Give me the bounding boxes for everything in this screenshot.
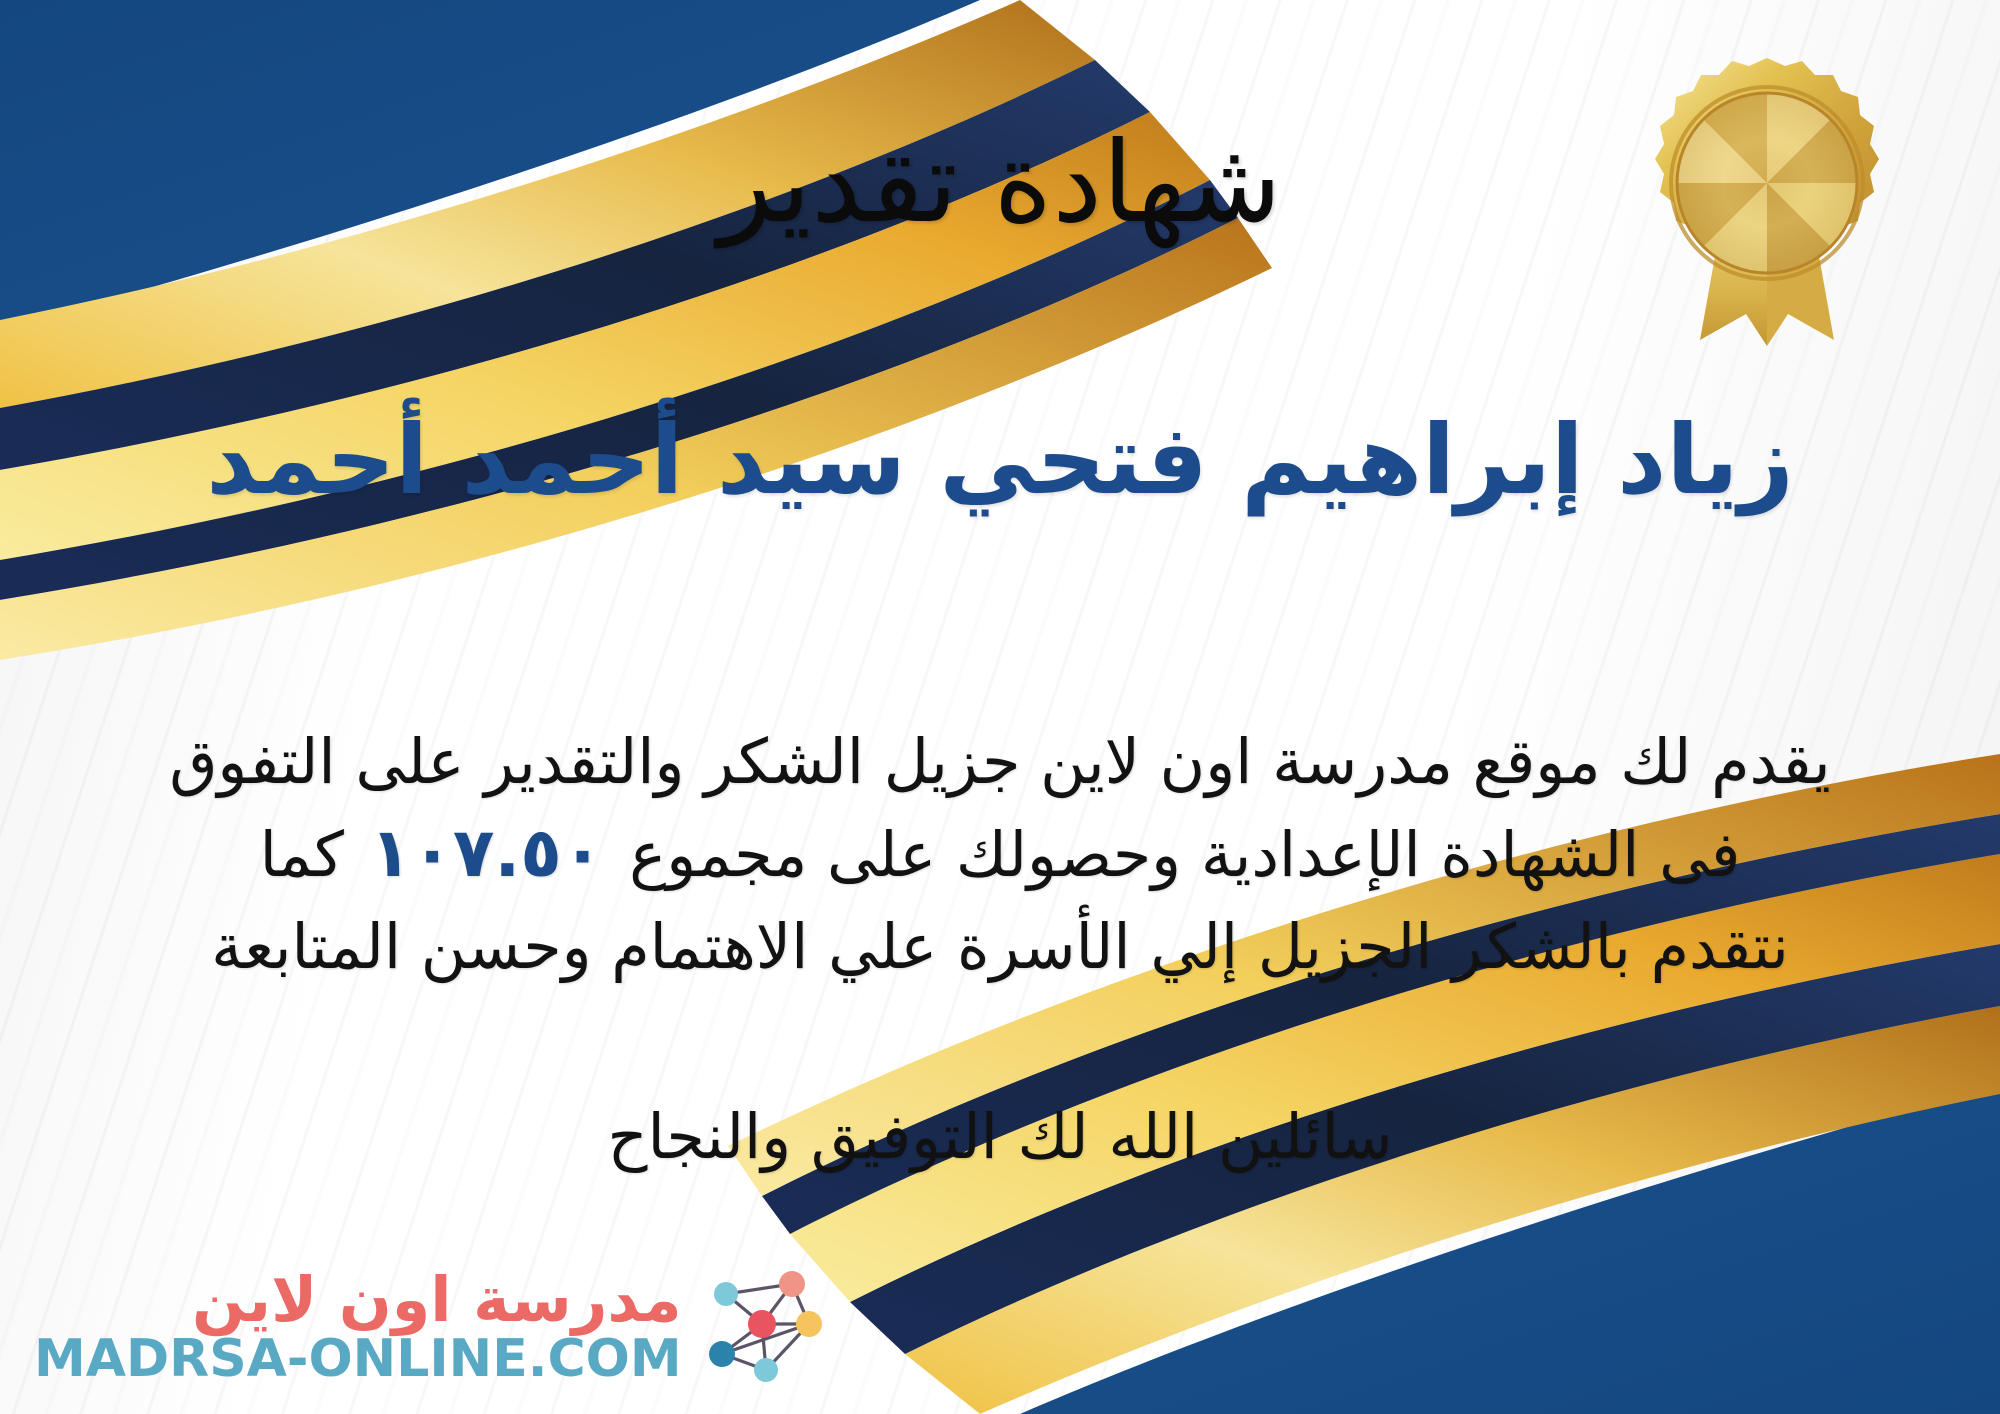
body-line-2: فى الشهادة الإعدادية وحصولك على مجموع١٠٧… xyxy=(60,806,1940,903)
body-line-2-prefix: فى الشهادة الإعدادية وحصولك على مجموع xyxy=(629,818,1740,891)
network-nodes-icon xyxy=(696,1262,826,1392)
logo-text-block: مدرسة اون لاين MADRSA-ONLINE.COM xyxy=(34,1268,682,1387)
closing-wish: سائلين الله لك التوفيق والنجاح xyxy=(0,1100,2000,1173)
total-score-value: ١٠٧.٥٠ xyxy=(344,814,629,893)
certificate-canvas: شهادة تقدير زياد إبراهيم فتحي سيد أحمد أ… xyxy=(0,0,2000,1414)
logo-arabic-name: مدرسة اون لاين xyxy=(192,1268,682,1332)
body-line-2-suffix: كما xyxy=(260,818,344,891)
gold-medal-ribbon-icon xyxy=(1642,48,1892,348)
body-line-3: نتقدم بالشكر الجزيل إلي الأسرة علي الاهت… xyxy=(60,903,1940,991)
gold-medal-seal xyxy=(1642,48,1892,348)
brand-logo[interactable]: مدرسة اون لاين MADRSA-ONLINE.COM xyxy=(34,1262,826,1392)
logo-website-url: MADRSA-ONLINE.COM xyxy=(34,1332,682,1386)
body-line-1: يقدم لك موقع مدرسة اون لاين جزيل الشكر و… xyxy=(60,718,1940,806)
recipient-name: زياد إبراهيم فتحي سيد أحمد أحمد xyxy=(0,400,2000,520)
certificate-body: يقدم لك موقع مدرسة اون لاين جزيل الشكر و… xyxy=(60,718,1940,991)
